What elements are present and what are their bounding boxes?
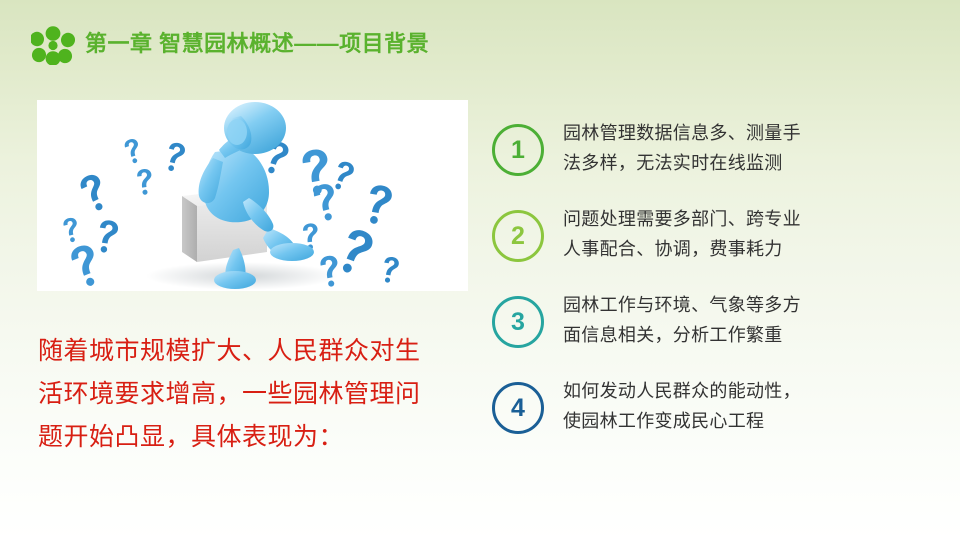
- list-item-line-2: 法多样，无法实时在线监测: [563, 148, 863, 178]
- page-title: 第一章 智慧园林概述——项目背景: [85, 29, 429, 59]
- list-item-line-1: 园林管理数据信息多、测量手: [563, 118, 863, 148]
- lead-line-1: 随着城市规模扩大、人民群众对生: [38, 330, 463, 373]
- status-badge: 4: [492, 382, 544, 434]
- status-badge: 2: [492, 210, 544, 262]
- list-item: 1 园林管理数据信息多、测量手 法多样，无法实时在线监测: [492, 118, 952, 204]
- list-item: 2 问题处理需要多部门、跨专业 人事配合、协调，费事耗力: [492, 204, 952, 290]
- list-item-text: 园林管理数据信息多、测量手 法多样，无法实时在线监测: [563, 118, 863, 178]
- confused-thinking-figure-image: [37, 100, 468, 291]
- list-item-text: 问题处理需要多部门、跨专业 人事配合、协调，费事耗力: [563, 204, 863, 264]
- list-item-line-2: 人事配合、协调，费事耗力: [563, 234, 863, 264]
- list-item-line-1: 如何发动人民群众的能动性，: [563, 376, 863, 406]
- list-item-line-2: 面信息相关，分析工作繁重: [563, 320, 863, 350]
- slide-header: 第一章 智慧园林概述——项目背景: [0, 0, 960, 78]
- slide-canvas: 第一章 智慧园林概述——项目背景: [0, 0, 960, 540]
- numbered-points-list: 1 园林管理数据信息多、测量手 法多样，无法实时在线监测 2 问题处理需要多部门…: [492, 118, 952, 462]
- question-marks-illustration-icon: [37, 100, 468, 291]
- list-item-line-2: 使园林工作变成民心工程: [563, 406, 863, 436]
- list-item-line-1: 问题处理需要多部门、跨专业: [563, 204, 863, 234]
- lead-line-2: 活环境要求增高，一些园林管理问: [38, 373, 463, 416]
- lead-paragraph: 随着城市规模扩大、人民群众对生 活环境要求增高，一些园林管理问 题开始凸显，具体…: [38, 330, 463, 459]
- list-item-line-1: 园林工作与环境、气象等多方: [563, 290, 863, 320]
- list-item-text: 园林工作与环境、气象等多方 面信息相关，分析工作繁重: [563, 290, 863, 350]
- list-item-text: 如何发动人民群众的能动性， 使园林工作变成民心工程: [563, 376, 863, 436]
- status-badge: 1: [492, 124, 544, 176]
- list-item: 4 如何发动人民群众的能动性， 使园林工作变成民心工程: [492, 376, 952, 462]
- flower-logo-icon: [31, 25, 75, 65]
- status-badge: 3: [492, 296, 544, 348]
- lead-line-3: 题开始凸显，具体表现为：: [38, 416, 463, 459]
- list-item: 3 园林工作与环境、气象等多方 面信息相关，分析工作繁重: [492, 290, 952, 376]
